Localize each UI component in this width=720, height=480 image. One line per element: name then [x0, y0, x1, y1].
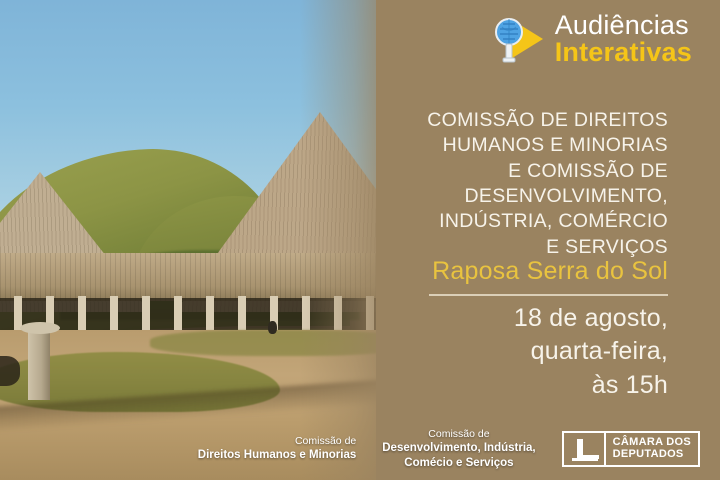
logo-line-audiencias: Audiências — [555, 13, 692, 39]
event-title: COMISSÃO DE DIREITOS HUMANOS E MINORIAS … — [418, 108, 668, 260]
microphone-play-icon — [487, 8, 549, 70]
divider-rule — [429, 294, 668, 296]
footer-left-bottom: Direitos Humanos e Minorias — [198, 448, 356, 462]
title-line-1: COMISSÃO DE DIREITOS — [418, 108, 668, 133]
event-subtitle: Raposa Serra do Sol — [418, 258, 668, 286]
title-line-2: HUMANOS E MINORIAS — [418, 133, 668, 158]
stone-pillar — [28, 328, 50, 400]
camara-building-icon — [564, 433, 606, 465]
camara-dos-deputados-logo: CÂMARA DOS DEPUTADOS — [562, 431, 700, 467]
title-line-3: E COMISSÃO DE — [418, 159, 668, 184]
title-line-5: INDÚSTRIA, COMÉRCIO — [418, 209, 668, 234]
footer-center-line1: Desenvolvimento, Indústria, — [382, 441, 535, 455]
date-line-day: 18 de agosto, — [418, 302, 668, 335]
bird — [268, 321, 277, 334]
footer-left-top: Comissão de — [198, 435, 356, 448]
date-line-weekday: quarta-feira, — [418, 335, 668, 368]
program-logo: Audiências Interativas — [487, 8, 692, 70]
stone-pillar-cap — [20, 322, 60, 334]
footer-commission-human-rights: Comissão de Direitos Humanos e Minorias — [198, 435, 356, 462]
footer-logos: Comissão de Direitos Humanos e Minorias … — [0, 418, 720, 480]
footer-commission-development: Comissão de Desenvolvimento, Indústria, … — [382, 428, 535, 470]
logo-wordmark: Audiências Interativas — [555, 13, 692, 66]
camara-line-2: DEPUTADOS — [613, 449, 691, 461]
date-line-time: às 15h — [418, 369, 668, 402]
camara-wordmark: CÂMARA DOS DEPUTADOS — [606, 433, 698, 465]
foreground-object — [0, 356, 20, 386]
title-line-4: DESENVOLVIMENTO, — [418, 184, 668, 209]
event-datetime: 18 de agosto, quarta-feira, às 15h — [418, 302, 668, 402]
footer-center-top: Comissão de — [382, 428, 535, 441]
poster-canvas: Audiências Interativas COMISSÃO DE DIREI… — [0, 0, 720, 480]
logo-line-interativas: Interativas — [555, 40, 692, 66]
footer-center-line2: Comécio e Serviços — [382, 456, 535, 470]
